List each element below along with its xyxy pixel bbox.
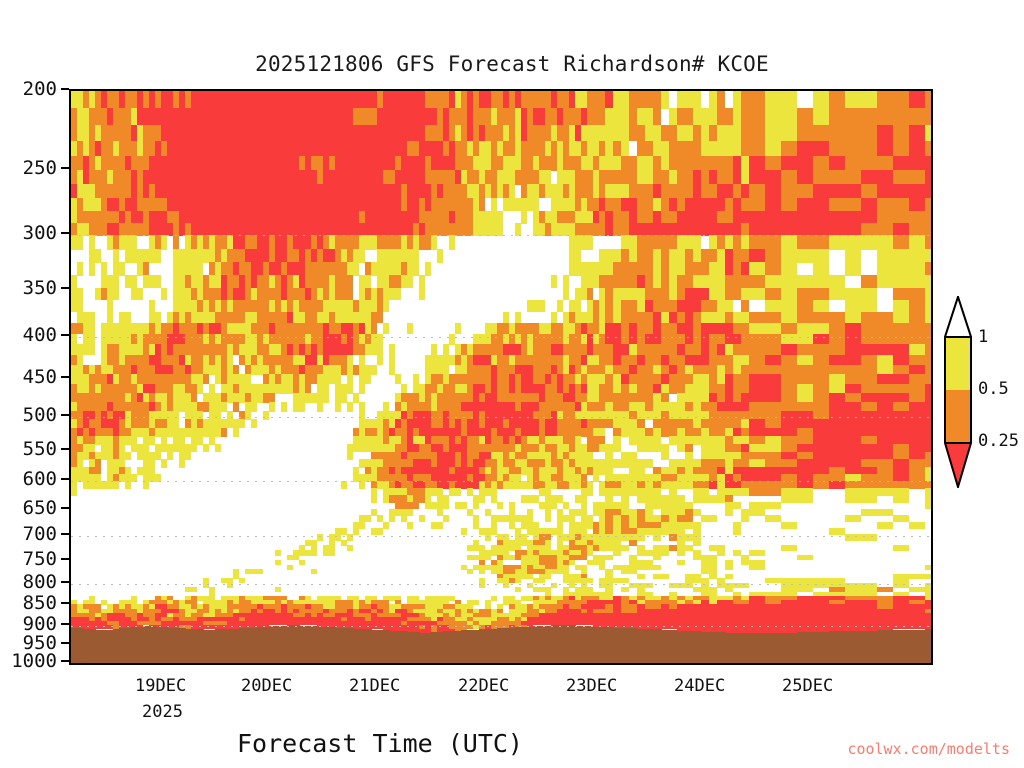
chart-root: 2025121806 GFS Forecast Richardson# KCOE… [0, 0, 1024, 768]
plot-area [69, 89, 933, 665]
chart-title: 2025121806 GFS Forecast Richardson# KCOE [0, 52, 1024, 76]
